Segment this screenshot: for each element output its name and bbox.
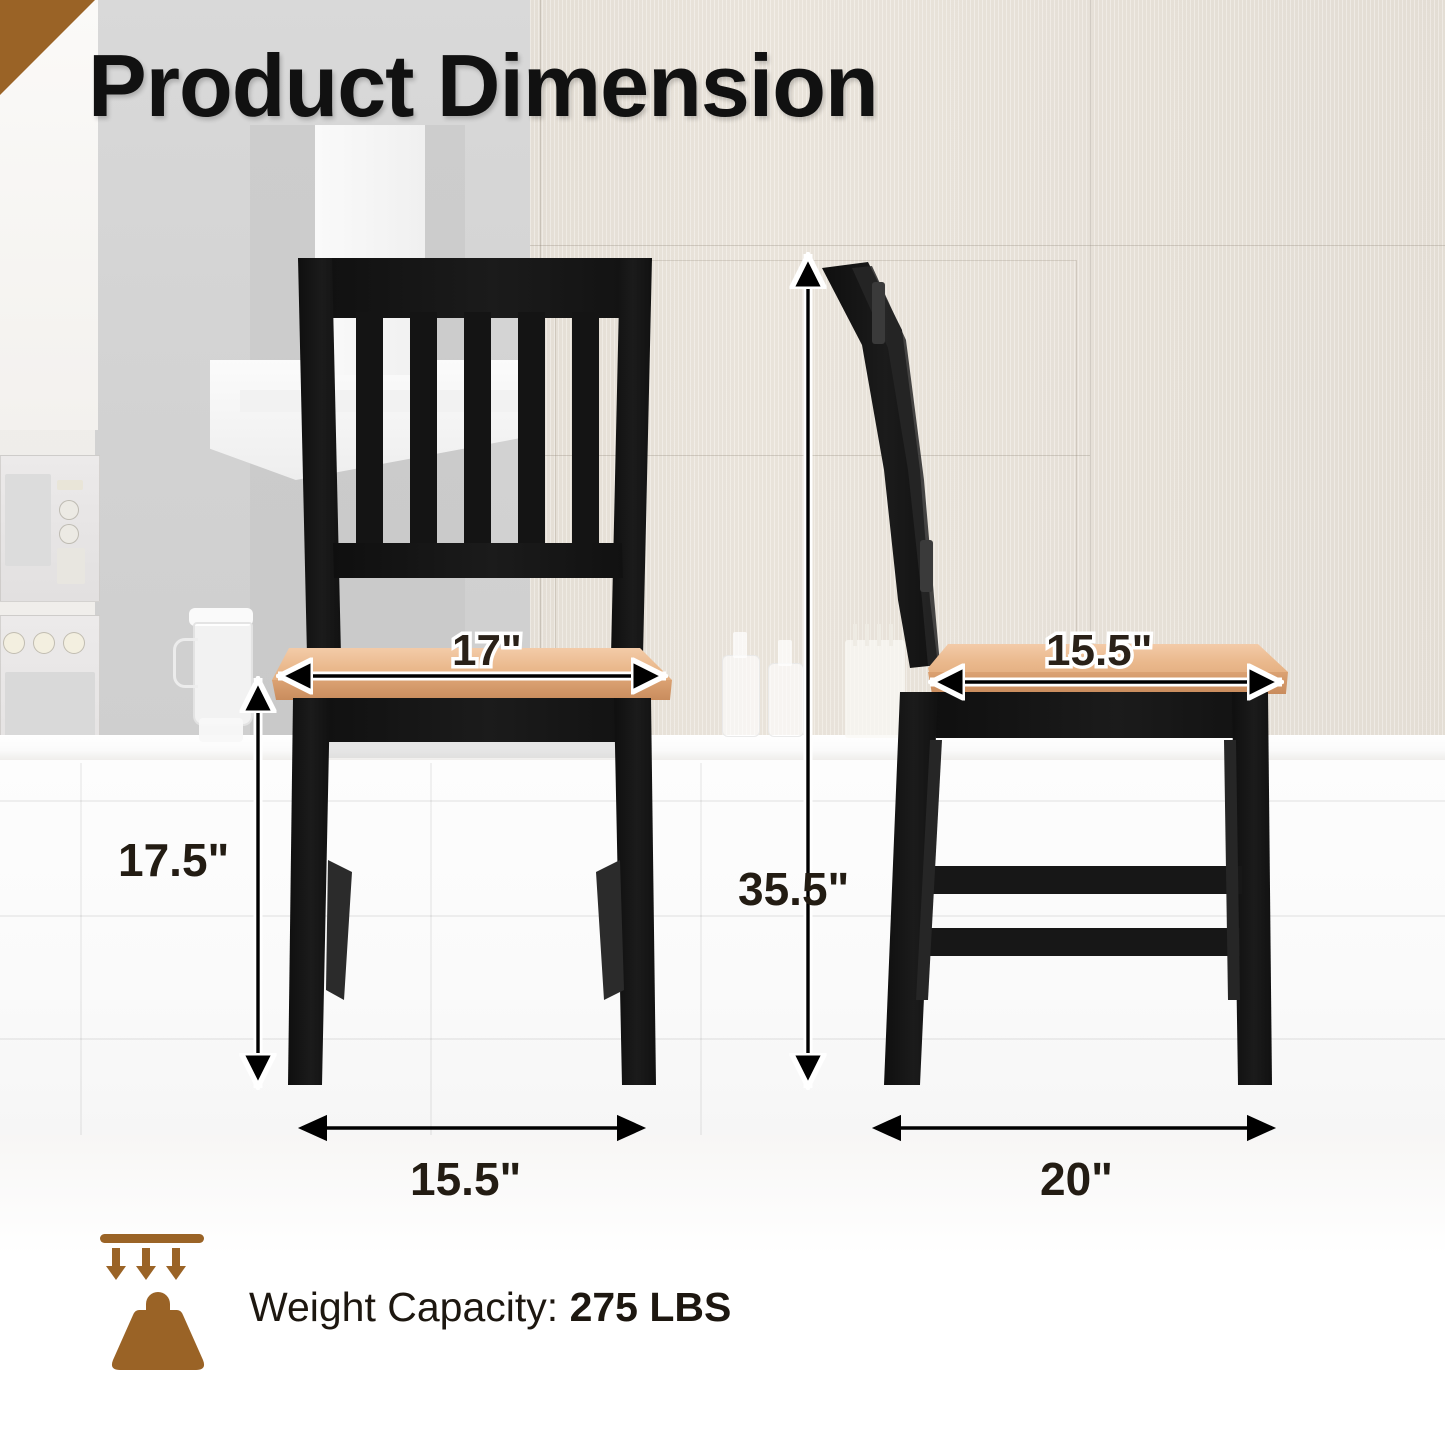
weight-icon-handle [146, 1292, 170, 1312]
dimension-label-seat-width-front: 17" [452, 626, 522, 676]
weight-icon-arrows [106, 1248, 186, 1280]
dimension-label-seat-depth-side: 15.5" [1046, 626, 1153, 676]
weight-load-icon [95, 1232, 221, 1382]
dimension-label-seat-height: 17.5" [118, 833, 229, 887]
dimension-arrows [0, 0, 1445, 1445]
weight-capacity-text: Weight Capacity: 275 LBS [249, 1284, 731, 1331]
dimension-label-total-height: 35.5" [738, 862, 849, 916]
weight-icon-body [112, 1310, 204, 1370]
product-dimension-infographic: Product Dimension [0, 0, 1445, 1445]
weight-capacity-value: 275 LBS [570, 1284, 732, 1330]
weight-capacity-section: Weight Capacity: 275 LBS [95, 1232, 731, 1382]
weight-icon-ceiling-bar [100, 1234, 204, 1243]
dimension-label-depth-side: 20" [1040, 1152, 1113, 1206]
dimension-label-width-front: 15.5" [410, 1152, 521, 1206]
weight-capacity-label: Weight Capacity: [249, 1284, 570, 1330]
